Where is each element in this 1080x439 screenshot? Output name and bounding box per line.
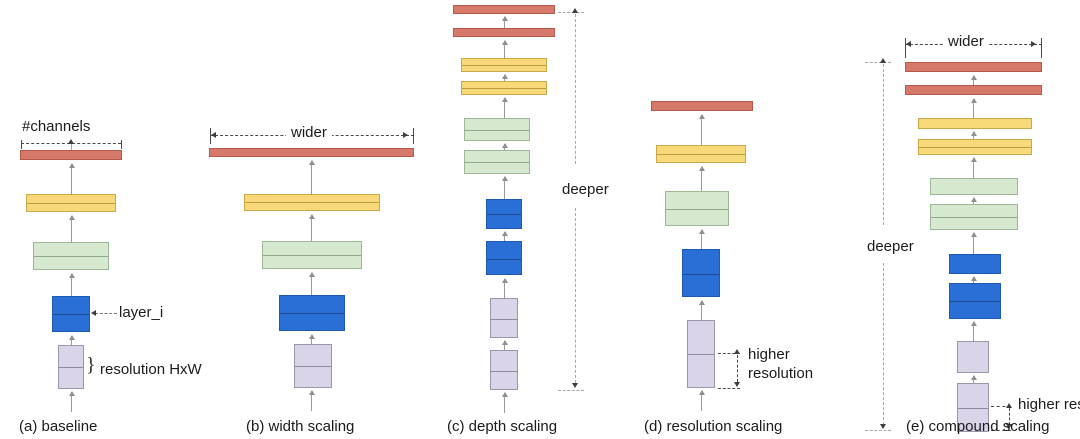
channels-dimension-tick-left	[21, 140, 22, 149]
block-green-a-1	[33, 242, 109, 270]
block-red-e-2	[905, 85, 1042, 95]
connector-e-2	[973, 322, 974, 342]
block-yellow-a-1	[26, 194, 116, 212]
connector-b-3	[311, 215, 312, 241]
resolution-label: resolution HxW	[100, 361, 202, 378]
block-divider	[465, 162, 529, 163]
block-blue-c-2	[486, 241, 522, 275]
block-yellow-c-2	[461, 81, 547, 95]
block-red-d-1	[651, 101, 753, 111]
block-divider	[950, 301, 1000, 302]
panel-a-baseline: #channels layer_i	[0, 0, 200, 439]
block-divider	[487, 259, 521, 260]
connector-b-input	[311, 391, 312, 411]
resolution-brace: }	[86, 355, 96, 375]
block-red-c-2	[453, 28, 555, 37]
connector-a-3	[71, 216, 72, 242]
connector-c-2	[504, 279, 505, 299]
block-divider	[688, 354, 714, 355]
block-yellow-e-1	[918, 118, 1032, 129]
block-blue-e-2	[949, 283, 1001, 319]
resolution-cap-bottom	[718, 388, 740, 389]
connector-e-6	[973, 158, 974, 179]
wider-arrow-left-e	[906, 41, 911, 47]
efficientnet-scaling-diagram: #channels layer_i	[0, 0, 1080, 439]
block-yellow-c-1	[461, 58, 547, 72]
connector-c-8	[504, 41, 505, 58]
panel-c-caption: (c) depth scaling	[447, 418, 557, 435]
layer-leader-arrow	[91, 310, 96, 316]
block-green-d-1	[665, 191, 729, 226]
connector-d-4	[701, 115, 702, 145]
wider-label: wider	[286, 124, 332, 141]
block-divider	[263, 255, 361, 256]
block-yellow-b-1	[244, 194, 380, 211]
resolution-arrow-bottom	[734, 382, 740, 387]
block-red-a-1	[20, 150, 122, 160]
panel-d-resolution-scaling: higher resolution (d) resolution scaling	[640, 0, 860, 439]
panel-e-compound-scaling: wider	[860, 0, 1080, 439]
block-divider	[462, 65, 546, 66]
wider-tick-right-e	[1041, 38, 1042, 58]
block-blue-e-1	[949, 254, 1001, 274]
block-divider	[491, 319, 517, 320]
connector-c-6	[504, 98, 505, 118]
layer-label: layer_i	[119, 304, 163, 321]
block-red-e-1	[905, 62, 1042, 72]
panel-e-caption: (e) compound scaling	[906, 418, 1049, 435]
block-input-c-1	[490, 298, 518, 338]
block-blue-a-1	[52, 296, 90, 332]
block-divider	[683, 274, 719, 275]
deeper-line-lower	[575, 208, 576, 383]
connector-d-3	[701, 167, 702, 191]
connector-e-4	[973, 233, 974, 255]
block-green-e-2	[930, 204, 1018, 230]
connector-b-4	[311, 161, 312, 194]
deeper-arrow-bottom	[572, 383, 578, 388]
deeper-cap-bottom	[558, 390, 584, 391]
deeper-arrow-top	[572, 8, 578, 13]
block-green-c-1	[464, 118, 530, 141]
block-yellow-e-2	[918, 139, 1032, 155]
panel-d-caption: (d) resolution scaling	[644, 418, 782, 435]
deeper-line-upper-e	[883, 64, 884, 225]
panel-a-caption: (a) baseline	[19, 418, 97, 435]
block-input-a-1	[58, 345, 84, 389]
block-yellow-d-1	[656, 145, 746, 163]
connector-c-input	[504, 393, 505, 413]
block-green-c-2	[464, 150, 530, 174]
wider-arrow-left	[211, 132, 216, 138]
connector-b-2	[311, 273, 312, 295]
channels-label: #channels	[22, 118, 90, 135]
resolution-dimension-line	[737, 355, 738, 382]
deeper-cap-top-e	[865, 62, 891, 63]
block-green-b-1	[262, 241, 362, 269]
block-input-e-1	[957, 341, 989, 373]
block-divider	[462, 88, 546, 89]
block-divider	[465, 130, 529, 131]
connector-a-input	[71, 392, 72, 412]
block-divider	[34, 256, 108, 257]
block-input-c-2	[490, 350, 518, 390]
block-divider	[295, 366, 331, 367]
deeper-line-lower-e	[883, 263, 884, 425]
channels-dimension-tick-right	[121, 140, 122, 149]
deeper-cap-bottom-e	[865, 430, 891, 431]
block-divider	[59, 367, 83, 368]
connector-a-2	[71, 274, 72, 296]
block-divider	[958, 408, 988, 409]
block-divider	[666, 209, 728, 210]
connector-e-8	[973, 99, 974, 118]
block-divider	[280, 313, 344, 314]
block-divider	[53, 314, 89, 315]
connector-d-2	[701, 230, 702, 250]
block-divider	[487, 214, 521, 215]
connector-c-4	[504, 177, 505, 199]
deeper-label: deeper	[562, 181, 609, 198]
wider-arrow-right	[403, 132, 408, 138]
block-blue-d-1	[682, 249, 720, 297]
block-divider	[931, 217, 1017, 218]
block-blue-b-1	[279, 295, 345, 331]
block-divider	[491, 371, 517, 372]
panel-c-depth-scaling: deeper (c) depth scaling	[430, 0, 640, 439]
block-red-c-1	[453, 5, 555, 14]
block-blue-c-1	[486, 199, 522, 229]
layer-leader-line	[95, 313, 117, 314]
connector-a-4	[71, 164, 72, 194]
block-divider	[245, 202, 379, 203]
deeper-line-upper	[575, 14, 576, 164]
higher-resolution-label: higher resolution	[748, 345, 840, 383]
block-input-b-1	[294, 344, 332, 388]
deeper-label-e: deeper	[867, 238, 914, 255]
block-divider	[657, 154, 745, 155]
deeper-cap-top	[558, 12, 584, 13]
wider-label-e: wider	[944, 33, 988, 50]
wider-tick-right	[413, 128, 414, 144]
block-input-d-1	[687, 320, 715, 388]
block-divider	[27, 203, 115, 204]
wider-arrow-right-e	[1031, 41, 1036, 47]
block-green-e-1	[930, 178, 1018, 195]
panel-b-caption: (b) width scaling	[246, 418, 354, 435]
panel-b-width-scaling: wider (b) width scaling	[200, 0, 430, 439]
connector-d-1	[701, 301, 702, 321]
higher-label-e: higher resolution	[1018, 396, 1080, 413]
connector-d-input	[701, 391, 702, 411]
resolution-arrow-top	[734, 349, 740, 354]
deeper-arrow-top-e	[880, 58, 886, 63]
block-divider	[919, 147, 1031, 148]
deeper-arrow-bottom-e	[880, 424, 886, 429]
block-red-b-1	[209, 148, 414, 157]
